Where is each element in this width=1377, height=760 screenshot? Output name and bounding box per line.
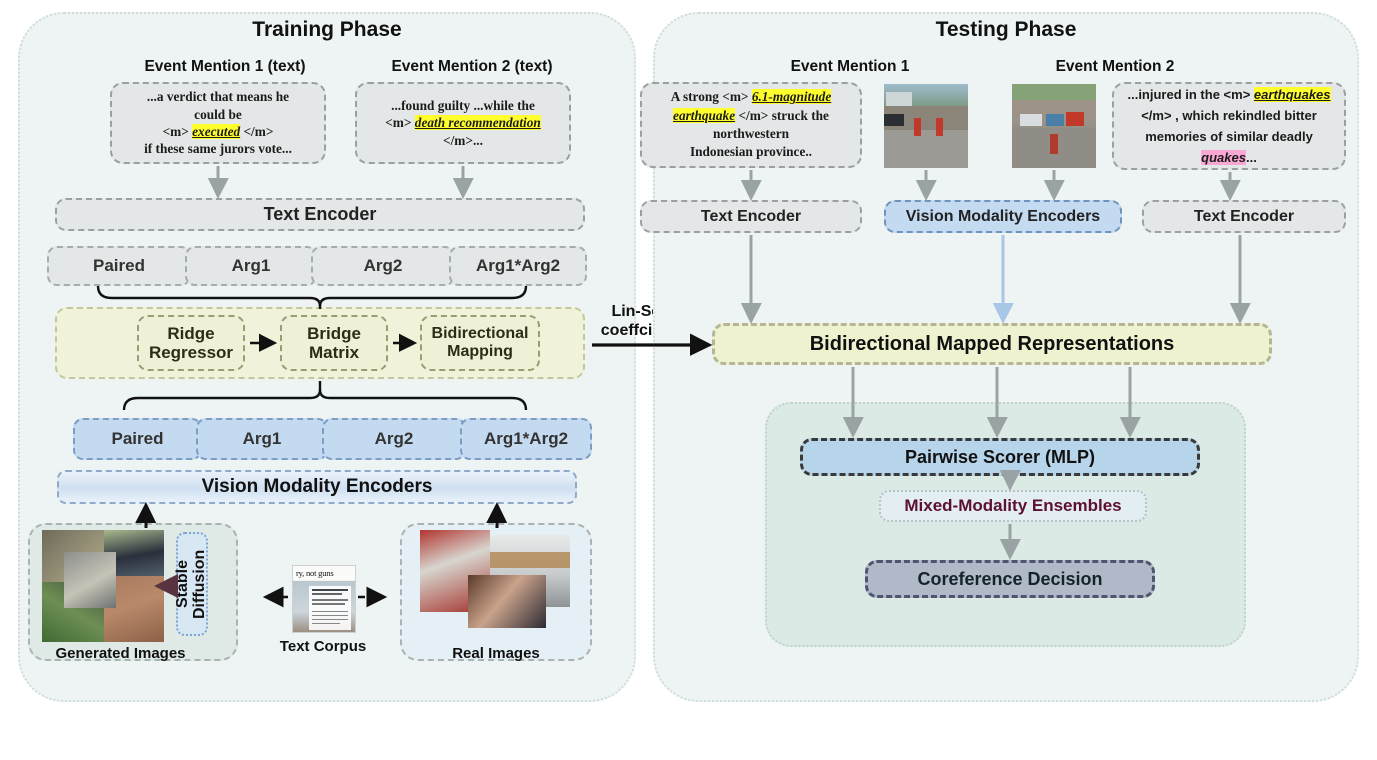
training-phase-title: Training Phase — [18, 18, 636, 42]
m2-open-tag: <m> — [385, 115, 411, 130]
testing-mention2-title: Event Mention 2 — [1000, 58, 1230, 76]
bridge-matrix-box[interactable]: Bridge Matrix — [280, 315, 388, 371]
m2-line3: </m>... — [443, 133, 483, 148]
generated-images-caption: Generated Images — [28, 645, 213, 662]
t2-trigger: earthquakes — [1254, 87, 1331, 102]
real-images-caption: Real Images — [400, 645, 592, 662]
t2-trigger-2: quakes — [1201, 150, 1246, 165]
ridge-regressor-line1: Ridge — [167, 324, 214, 343]
testing-mention1-title: Event Mention 1 — [740, 58, 960, 76]
coreference-decision-box[interactable]: Coreference Decision — [865, 560, 1155, 598]
training-feature-paired[interactable]: Paired — [47, 246, 191, 286]
testing-mention2-text: ...injured in the <m> earthquakes </m> ,… — [1121, 81, 1336, 171]
t1-trigger-1: 6.1-magnitude — [752, 89, 831, 104]
training-vision-modality-encoders[interactable]: Vision Modality Encoders — [57, 470, 577, 504]
m1-close-tag: </m> — [243, 124, 273, 139]
t1-line3: northwestern — [713, 126, 789, 141]
testing-mention1-text: A strong <m> 6.1-magnitude earthquake </… — [665, 85, 837, 164]
testing-text-encoder-right[interactable]: Text Encoder — [1142, 200, 1346, 233]
bidirectional-mapping-box[interactable]: Bidirectional Mapping — [420, 315, 540, 371]
t2-open-tag: <m> — [1224, 87, 1251, 102]
testing-mention1-box: A strong <m> 6.1-magnitude earthquake </… — [640, 82, 862, 168]
t2-line2: </m> , which rekindled bitter — [1141, 108, 1317, 123]
training-mention1-title: Event Mention 1 (text) — [105, 58, 345, 76]
ridge-regressor-line2: Regressor — [149, 343, 233, 362]
testing-mention2-box: ...injured in the <m> earthquakes </m> ,… — [1112, 82, 1346, 170]
training-feature-arg1[interactable]: Arg1 — [185, 246, 317, 286]
real-images-collage — [420, 530, 570, 628]
t2-ellipsis: ... — [1246, 150, 1257, 165]
testing-phase-title: Testing Phase — [653, 18, 1359, 42]
t1-post: struck the — [768, 108, 829, 123]
training-feature-arg2[interactable]: Arg2 — [311, 246, 455, 286]
training-vfeature-arg1[interactable]: Arg1 — [196, 418, 328, 460]
t2-line3: memories of similar deadly — [1145, 129, 1313, 144]
bridge-matrix-line1: Bridge — [307, 324, 361, 343]
training-mention1-text: ...a verdict that means he could be <m> … — [138, 85, 298, 160]
mixed-modality-ensembles-box[interactable]: Mixed-Modality Ensembles — [879, 490, 1147, 522]
text-corpus-caption: Text Corpus — [270, 638, 376, 655]
training-mention2-box: ...found guilty ...while the <m> death r… — [355, 82, 571, 164]
t1-open-tag: <m> — [722, 89, 748, 104]
t1-line4: Indonesian province.. — [690, 144, 812, 159]
ridge-regressor-box[interactable]: Ridge Regressor — [137, 315, 245, 371]
pairwise-scorer-box[interactable]: Pairwise Scorer (MLP) — [800, 438, 1200, 476]
t1-close-tag: </m> — [738, 108, 768, 123]
m1-line2: could be — [194, 107, 242, 122]
training-mention2-title: Event Mention 2 (text) — [352, 58, 592, 76]
testing-image-2 — [1012, 84, 1096, 168]
text-corpus-thumbnail: ry, not guns — [292, 565, 356, 633]
text-corpus-headline: ry, not guns — [296, 568, 333, 578]
bridge-matrix-line2: Matrix — [309, 343, 359, 362]
m1-trigger: executed — [192, 124, 240, 139]
m1-line4: if these same jurors vote... — [144, 141, 292, 156]
training-vfeature-arg2[interactable]: Arg2 — [322, 418, 466, 460]
bidirectional-mapping-line1: Bidirectional — [432, 325, 529, 343]
t1-pre: A strong — [671, 89, 722, 104]
m2-trigger: death recommendation — [415, 115, 541, 130]
testing-image-1 — [884, 84, 968, 168]
training-text-encoder[interactable]: Text Encoder — [55, 198, 585, 231]
m1-line1: ...a verdict that means he — [147, 89, 289, 104]
training-feature-arg1arg2[interactable]: Arg1*Arg2 — [449, 246, 587, 286]
training-mention2-text: ...found guilty ...while the <m> death r… — [379, 94, 547, 152]
t1-trigger-2: earthquake — [673, 108, 735, 123]
t2-pre: ...injured in the — [1127, 87, 1223, 102]
m2-line1: ...found guilty ...while the — [391, 98, 535, 113]
stable-diffusion-box[interactable]: Stable Diffusion — [176, 532, 208, 636]
stable-diffusion-line2: Diffusion — [191, 549, 208, 618]
training-mention1-box: ...a verdict that means he could be <m> … — [110, 82, 326, 164]
stable-diffusion-line1: Stable — [174, 560, 191, 608]
training-vfeature-arg1arg2[interactable]: Arg1*Arg2 — [460, 418, 592, 460]
training-vfeature-paired[interactable]: Paired — [73, 418, 202, 460]
m1-open-tag: <m> — [163, 124, 189, 139]
bidirectional-mapping-line2: Mapping — [447, 343, 513, 361]
bidirectional-mapped-representations[interactable]: Bidirectional Mapped Representations — [712, 323, 1272, 365]
testing-text-encoder-left[interactable]: Text Encoder — [640, 200, 862, 233]
testing-vision-modality-encoders[interactable]: Vision Modality Encoders — [884, 200, 1122, 233]
generated-images-collage — [42, 530, 164, 642]
